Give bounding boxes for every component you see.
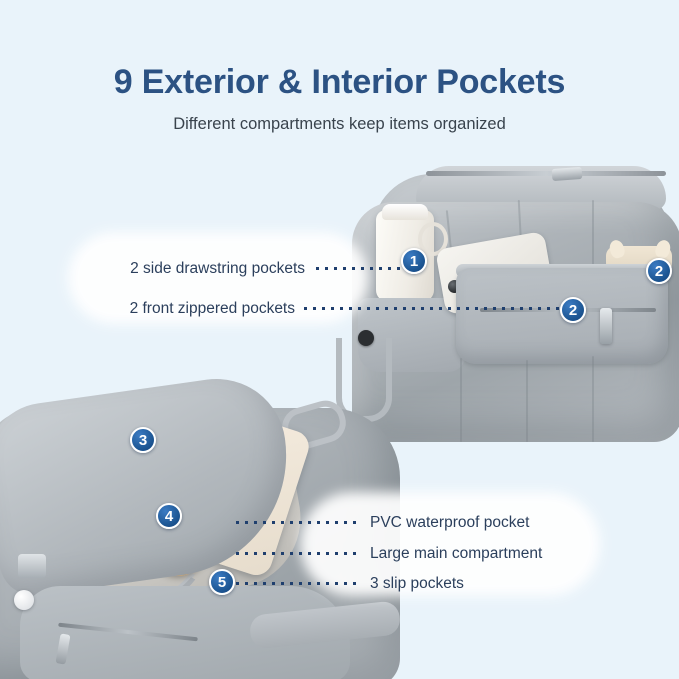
- number-badge-4: 4: [156, 503, 182, 529]
- top-zipper-pull-icon: [552, 167, 583, 181]
- number-badge-2b: 2: [560, 297, 586, 323]
- top-zipper-icon: [426, 171, 666, 176]
- leader-line-3: [236, 521, 360, 524]
- drawstring-knob: [14, 590, 34, 610]
- seam: [592, 356, 594, 442]
- page-subtitle: Different compartments keep items organi…: [0, 115, 679, 134]
- leader-line-1: [316, 267, 402, 270]
- leader-line-5: [236, 582, 360, 585]
- bottle-cap: [382, 204, 428, 220]
- seam: [526, 360, 528, 442]
- callout-label-2: 2 front zippered pockets: [0, 300, 295, 318]
- callout-label-3: PVC waterproof pocket: [370, 514, 529, 532]
- front-zipper-pull-icon: [600, 308, 612, 344]
- page-title: 9 Exterior & Interior Pockets: [0, 63, 679, 102]
- product-infographic: 9 Exterior & Interior Pockets Different …: [0, 0, 679, 679]
- callout-label-4: Large main compartment: [370, 545, 542, 563]
- drawstring-knob: [358, 330, 374, 346]
- leader-line-4: [236, 552, 360, 555]
- number-badge-5: 5: [209, 569, 235, 595]
- number-badge-3: 3: [130, 427, 156, 453]
- callout-label-1: 2 side drawstring pockets: [0, 260, 305, 278]
- strap-buckle: [18, 554, 46, 578]
- seam: [460, 358, 462, 442]
- callout-label-5: 3 slip pockets: [370, 575, 464, 593]
- number-badge-2a: 2: [646, 258, 672, 284]
- number-badge-1: 1: [401, 248, 427, 274]
- leader-line-2: [304, 307, 566, 310]
